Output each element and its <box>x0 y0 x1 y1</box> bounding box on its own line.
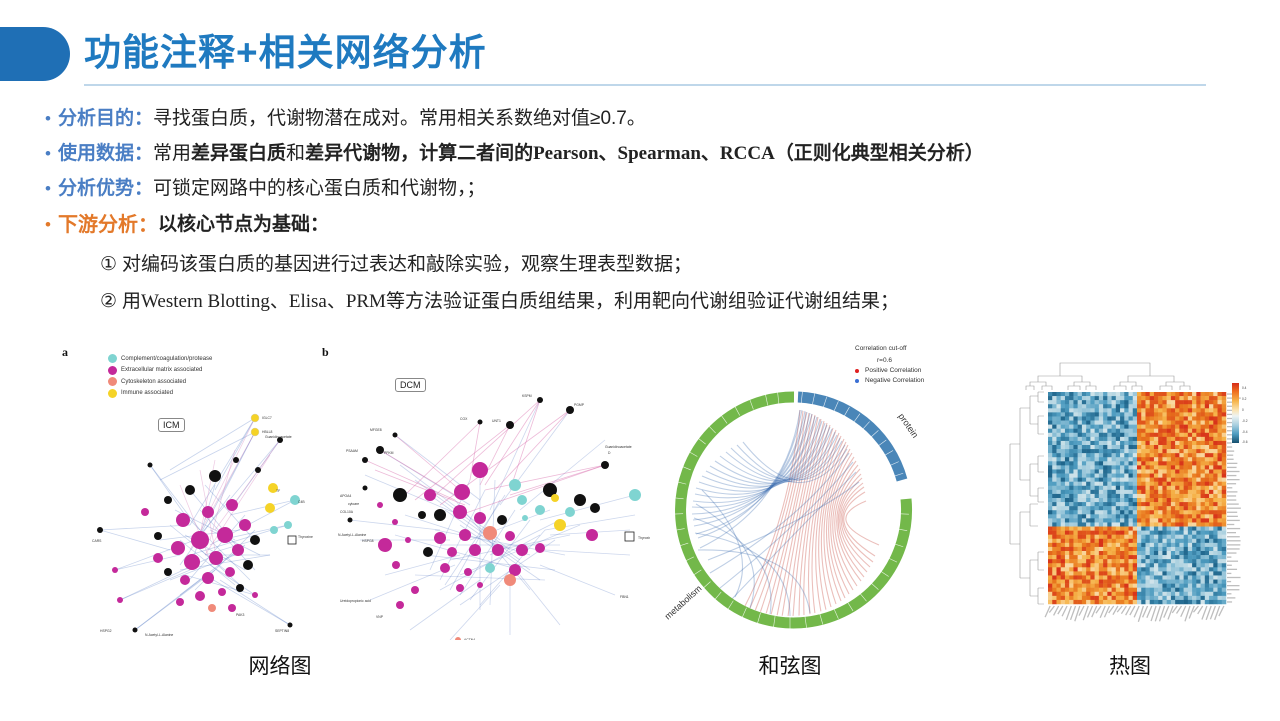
bullet-label-downstream: 下游分析： <box>58 210 158 240</box>
caption-network: 网络图 <box>190 650 370 680</box>
svg-text:SEPTIN8: SEPTIN8 <box>275 629 289 633</box>
svg-text:APOA4: APOA4 <box>340 494 351 498</box>
svg-text:N-Acetyl-L-Alanine: N-Acetyl-L-Alanine <box>145 633 173 637</box>
svg-text:PFKM: PFKM <box>384 451 394 455</box>
svg-text:CARS: CARS <box>92 539 102 543</box>
svg-text:IGLC7: IGLC7 <box>262 416 272 420</box>
svg-text:D: D <box>608 451 611 455</box>
svg-text:PGMP: PGMP <box>574 403 585 407</box>
bullet-marker: • <box>38 174 58 204</box>
sub-text-methods: Western Blotting、Elisa、PRM <box>141 291 386 312</box>
heatmap-cells <box>1048 392 1226 604</box>
svg-text:KSPM: KSPM <box>522 394 532 398</box>
svg-text:HSPG8: HSPG8 <box>362 539 374 543</box>
heatmap-colorbar <box>1232 383 1239 443</box>
text-bold-3: （正则化典型相关分析） <box>775 143 984 164</box>
svg-text:0: 0 <box>1242 408 1244 412</box>
bullet-row-data: • 使用数据： 常用差异蛋白质和差异代谢物，计算二者间的Pearson、Spea… <box>38 139 1268 169</box>
bullet-marker: • <box>38 139 58 169</box>
title-underline <box>84 84 1206 86</box>
network-figure: a b Complement/coagulation/protease Extr… <box>40 340 650 640</box>
svg-text:N-Acetyl-L-Alanine: N-Acetyl-L-Alanine <box>338 533 366 537</box>
svg-text:Thyroxine: Thyroxine <box>298 535 313 539</box>
text-plain-1: 常用 <box>153 143 191 164</box>
title-accent-pill <box>0 27 70 81</box>
bullet-text-advantage: 可锁定网路中的核心蛋白质和代谢物，； <box>153 174 486 204</box>
chord-label-metabolism: metabolism <box>663 583 704 621</box>
panel-a-nodes <box>97 414 300 633</box>
bullet-text-downstream: 以核心节点为基础： <box>158 210 329 240</box>
page-title: 功能注释+相关网络分析 <box>84 25 487 81</box>
svg-text:VNP: VNP <box>376 615 384 619</box>
svg-text:Thyroxine: Thyroxine <box>638 536 650 540</box>
svg-text:-0.2: -0.2 <box>1242 419 1248 423</box>
bullet-text-data: 常用差异蛋白质和差异代谢物，计算二者间的Pearson、Spearman、RCC… <box>153 139 984 169</box>
svg-text:0.4: 0.4 <box>1242 386 1247 390</box>
svg-text:FBN1: FBN1 <box>620 595 629 599</box>
chord-cutoff-value: r=0.6 <box>877 357 924 364</box>
bullet-label-advantage: 分析优势： <box>58 174 153 204</box>
chord-diagram-svg: protein metabolism <box>650 368 950 668</box>
caption-chord: 和弦图 <box>700 650 880 680</box>
panel-b-node-labels: KSPM PGMP UNT1 COX Guanidinoacetate D MF… <box>338 394 650 640</box>
svg-text:MFGE8: MFGE8 <box>370 428 382 432</box>
svg-text:COX: COX <box>460 417 468 421</box>
text-bold-1: 差异蛋白质 <box>191 143 286 164</box>
bullet-marker: • <box>38 210 58 240</box>
sub-text-pre: 用 <box>122 291 141 312</box>
network-graph-svg: IGLC7 HBLL8 Guanidinoacetate CARS Thyrox… <box>40 340 650 640</box>
bullet-row-advantage: • 分析优势： 可锁定网路中的核心蛋白质和代谢物，； <box>38 174 1268 204</box>
svg-text:PSAAM: PSAAM <box>346 449 358 453</box>
bullet-label-purpose: 分析目的： <box>58 104 153 134</box>
row-dendrogram <box>1010 392 1044 604</box>
sub-text-post: 等方法验证蛋白质组结果，利用靶向代谢组验证代谢组结果； <box>386 291 899 312</box>
bullet-label-data: 使用数据： <box>58 139 153 169</box>
sub-item-number: ② <box>100 287 122 317</box>
slide-header: 功能注释+相关网络分析 <box>0 27 1230 83</box>
svg-text:-0.4: -0.4 <box>1242 430 1248 434</box>
svg-text:Guanidinoacetate: Guanidinoacetate <box>605 445 632 449</box>
svg-text:COL10A: COL10A <box>340 510 354 514</box>
sub-item-text: 用Western Blotting、Elisa、PRM等方法验证蛋白质组结果，利… <box>122 287 899 317</box>
svg-text:PAK3: PAK3 <box>236 613 245 617</box>
bullet-row-downstream: • 下游分析： 以核心节点为基础： <box>38 210 1268 240</box>
heatmap-svg: 0.4 0.2 0 -0.2 -0.4 -0.6 <box>1000 348 1260 640</box>
svg-text:ACTN4: ACTN4 <box>464 638 475 640</box>
sub-item-1: ① 对编码该蛋白质的基因进行过表达和敲除实验，观察生理表型数据； <box>100 250 1268 280</box>
chord-legend-title: Correlation cut-off <box>855 345 924 352</box>
heatmap-figure: 0.4 0.2 0 -0.2 -0.4 -0.6 <box>1000 348 1260 640</box>
sub-item-2: ② 用Western Blotting、Elisa、PRM等方法验证蛋白质组结果… <box>100 287 1268 317</box>
svg-text:Ureidopropionic acid: Ureidopropionic acid <box>340 599 371 603</box>
text-methods: Pearson、Spearman、RCCA <box>533 143 775 164</box>
svg-text:cytoare: cytoare <box>348 502 359 506</box>
bullet-text-purpose: 寻找蛋白质，代谢物潜在成对。常用相关系数绝对值≥0.7。 <box>153 104 646 134</box>
heatmap-col-labels <box>1045 606 1224 622</box>
caption-heatmap: 热图 <box>1040 650 1220 680</box>
bullet-row-purpose: • 分析目的： 寻找蛋白质，代谢物潜在成对。常用相关系数绝对值≥0.7。 <box>38 104 1268 134</box>
svg-text:HBLL8: HBLL8 <box>262 430 272 434</box>
panel-b-nodes <box>348 397 642 640</box>
bullet-marker: • <box>38 104 58 134</box>
chord-figure: Correlation cut-off r=0.6 Positive Corre… <box>655 340 955 640</box>
text-plain-2: 和 <box>286 143 305 164</box>
sub-item-number: ① <box>100 250 122 280</box>
svg-text:TF: TF <box>276 489 280 493</box>
svg-text:HSPG2: HSPG2 <box>100 629 112 633</box>
column-dendrogram <box>1026 363 1190 390</box>
svg-text:Guanidinoacetate: Guanidinoacetate <box>265 435 292 439</box>
svg-text:UNT1: UNT1 <box>492 419 501 423</box>
chord-ribbons <box>692 410 879 617</box>
bullet-list: • 分析目的： 寻找蛋白质，代谢物潜在成对。常用相关系数绝对值≥0.7。 • 使… <box>38 104 1268 321</box>
text-bold-2: 差异代谢物，计算二者间的 <box>305 143 533 164</box>
chord-label-protein: protein <box>896 411 920 439</box>
svg-text:0.2: 0.2 <box>1242 397 1247 401</box>
svg-text:-0.6: -0.6 <box>1242 440 1248 444</box>
colorbar-tick-labels: 0.4 0.2 0 -0.2 -0.4 -0.6 <box>1242 386 1248 444</box>
svg-text:C4B: C4B <box>298 500 305 504</box>
sub-item-text: 对编码该蛋白质的基因进行过表达和敲除实验，观察生理表型数据； <box>122 250 692 280</box>
